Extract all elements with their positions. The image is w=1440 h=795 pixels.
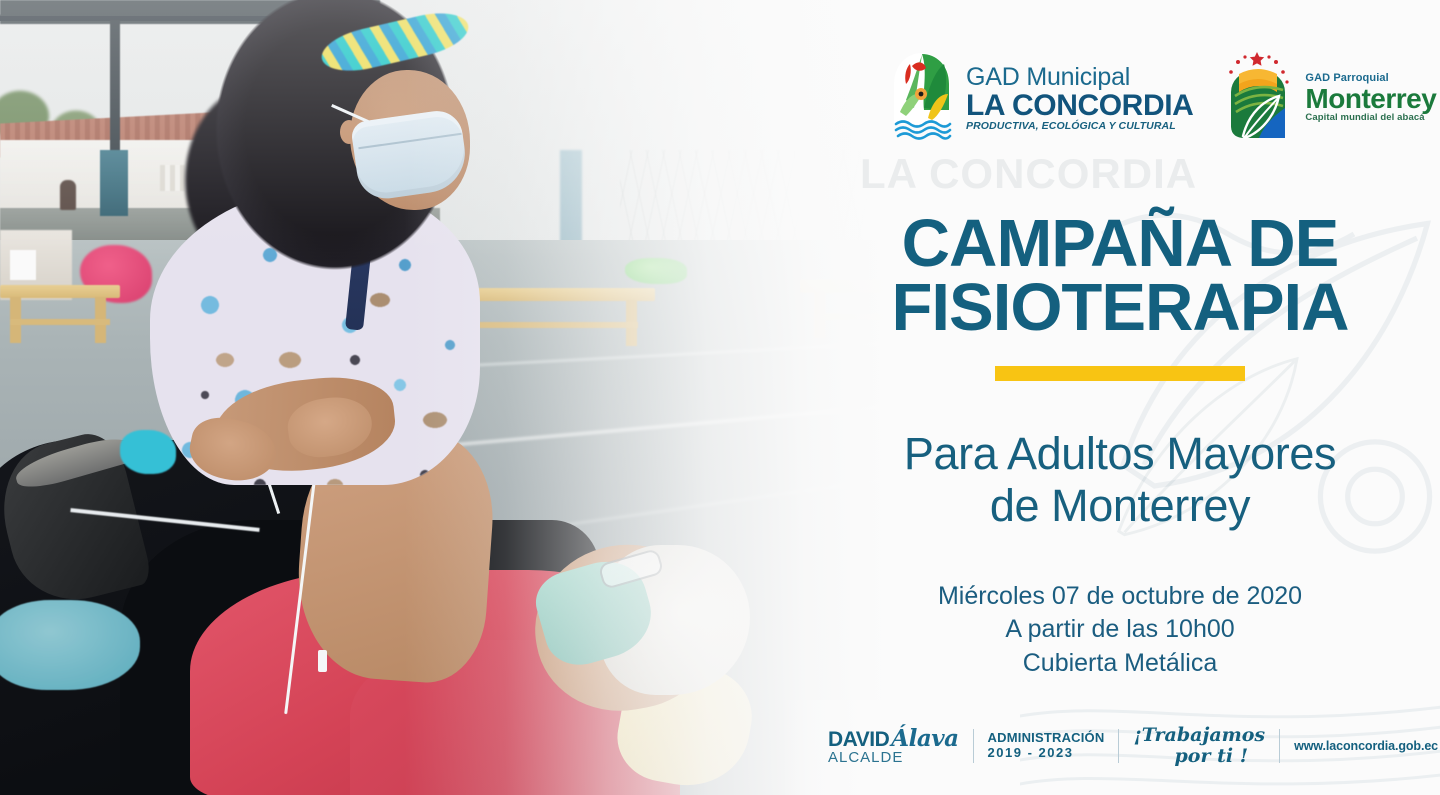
event-venue: Cubierta Metálica — [800, 647, 1440, 680]
administration-label: ADMINISTRACIÓN — [988, 731, 1105, 746]
monterrey-rounded-square-emblem-icon — [1221, 50, 1295, 146]
logo-la-concordia-tagline: PRODUCTIVA, ECOLÓGICA Y CULTURAL — [966, 121, 1193, 132]
footer-content: DAVID Álava ALCALDE ADMINISTRACIÓN 2019 … — [828, 726, 1440, 766]
footer-bar: DAVID Álava ALCALDE ADMINISTRACIÓN 2019 … — [780, 700, 1440, 795]
subheadline-line-2: de Monterrey — [800, 480, 1440, 532]
headline: CAMPAÑA DE FISIOTERAPIA — [800, 212, 1440, 341]
yellow-divider — [995, 366, 1245, 381]
logo-monterrey-line2: Monterrey — [1305, 85, 1436, 113]
mayor-signature: DAVID Álava ALCALDE — [828, 727, 959, 765]
headline-line-2: FISIOTERAPIA — [800, 276, 1440, 340]
event-details: Miércoles 07 de octubre de 2020 A partir… — [800, 580, 1440, 680]
la-concordia-shield-emblem-icon — [888, 50, 956, 146]
website-url[interactable]: www.laconcordia.gob.ec — [1294, 739, 1438, 753]
flyer-canvas: LA CONCORDIA — [0, 0, 1440, 795]
mayor-last-name: Álava — [891, 727, 958, 750]
slogan: ¡Trabajamos por ti ! — [1133, 726, 1265, 766]
watermark-text: LA CONCORDIA — [860, 150, 1400, 198]
subheadline: Para Adultos Mayores de Monterrey — [800, 428, 1440, 532]
mayor-first-name: DAVID — [828, 729, 889, 750]
footer-separator — [973, 729, 974, 763]
slogan-line-2: por ti ! — [1133, 747, 1265, 766]
logo-la-concordia-line2: LA CONCORDIA — [966, 90, 1193, 121]
footer-separator — [1279, 729, 1280, 763]
logo-monterrey: GAD Parroquial Monterrey Capital mundial… — [1221, 50, 1436, 146]
footer-separator — [1118, 729, 1119, 763]
logo-la-concordia: GAD Municipal LA CONCORDIA PRODUCTIVA, E… — [888, 50, 1193, 146]
slogan-line-1: ¡Trabajamos — [1133, 724, 1265, 746]
administration-block: ADMINISTRACIÓN 2019 - 2023 — [988, 731, 1105, 760]
logo-monterrey-tagline: Capital mundial del abacá — [1305, 113, 1436, 123]
headline-line-1: CAMPAÑA DE — [800, 212, 1440, 276]
administration-years: 2019 - 2023 — [988, 746, 1105, 761]
event-date: Miércoles 07 de octubre de 2020 — [800, 580, 1440, 613]
content-panel: LA CONCORDIA — [800, 0, 1440, 795]
mayor-role: ALCALDE — [828, 750, 959, 765]
logo-row: GAD Municipal LA CONCORDIA PRODUCTIVA, E… — [888, 50, 1436, 146]
logo-la-concordia-line1: GAD Municipal — [966, 64, 1193, 90]
event-time: A partir de las 10h00 — [800, 613, 1440, 646]
subheadline-line-1: Para Adultos Mayores — [800, 428, 1440, 480]
